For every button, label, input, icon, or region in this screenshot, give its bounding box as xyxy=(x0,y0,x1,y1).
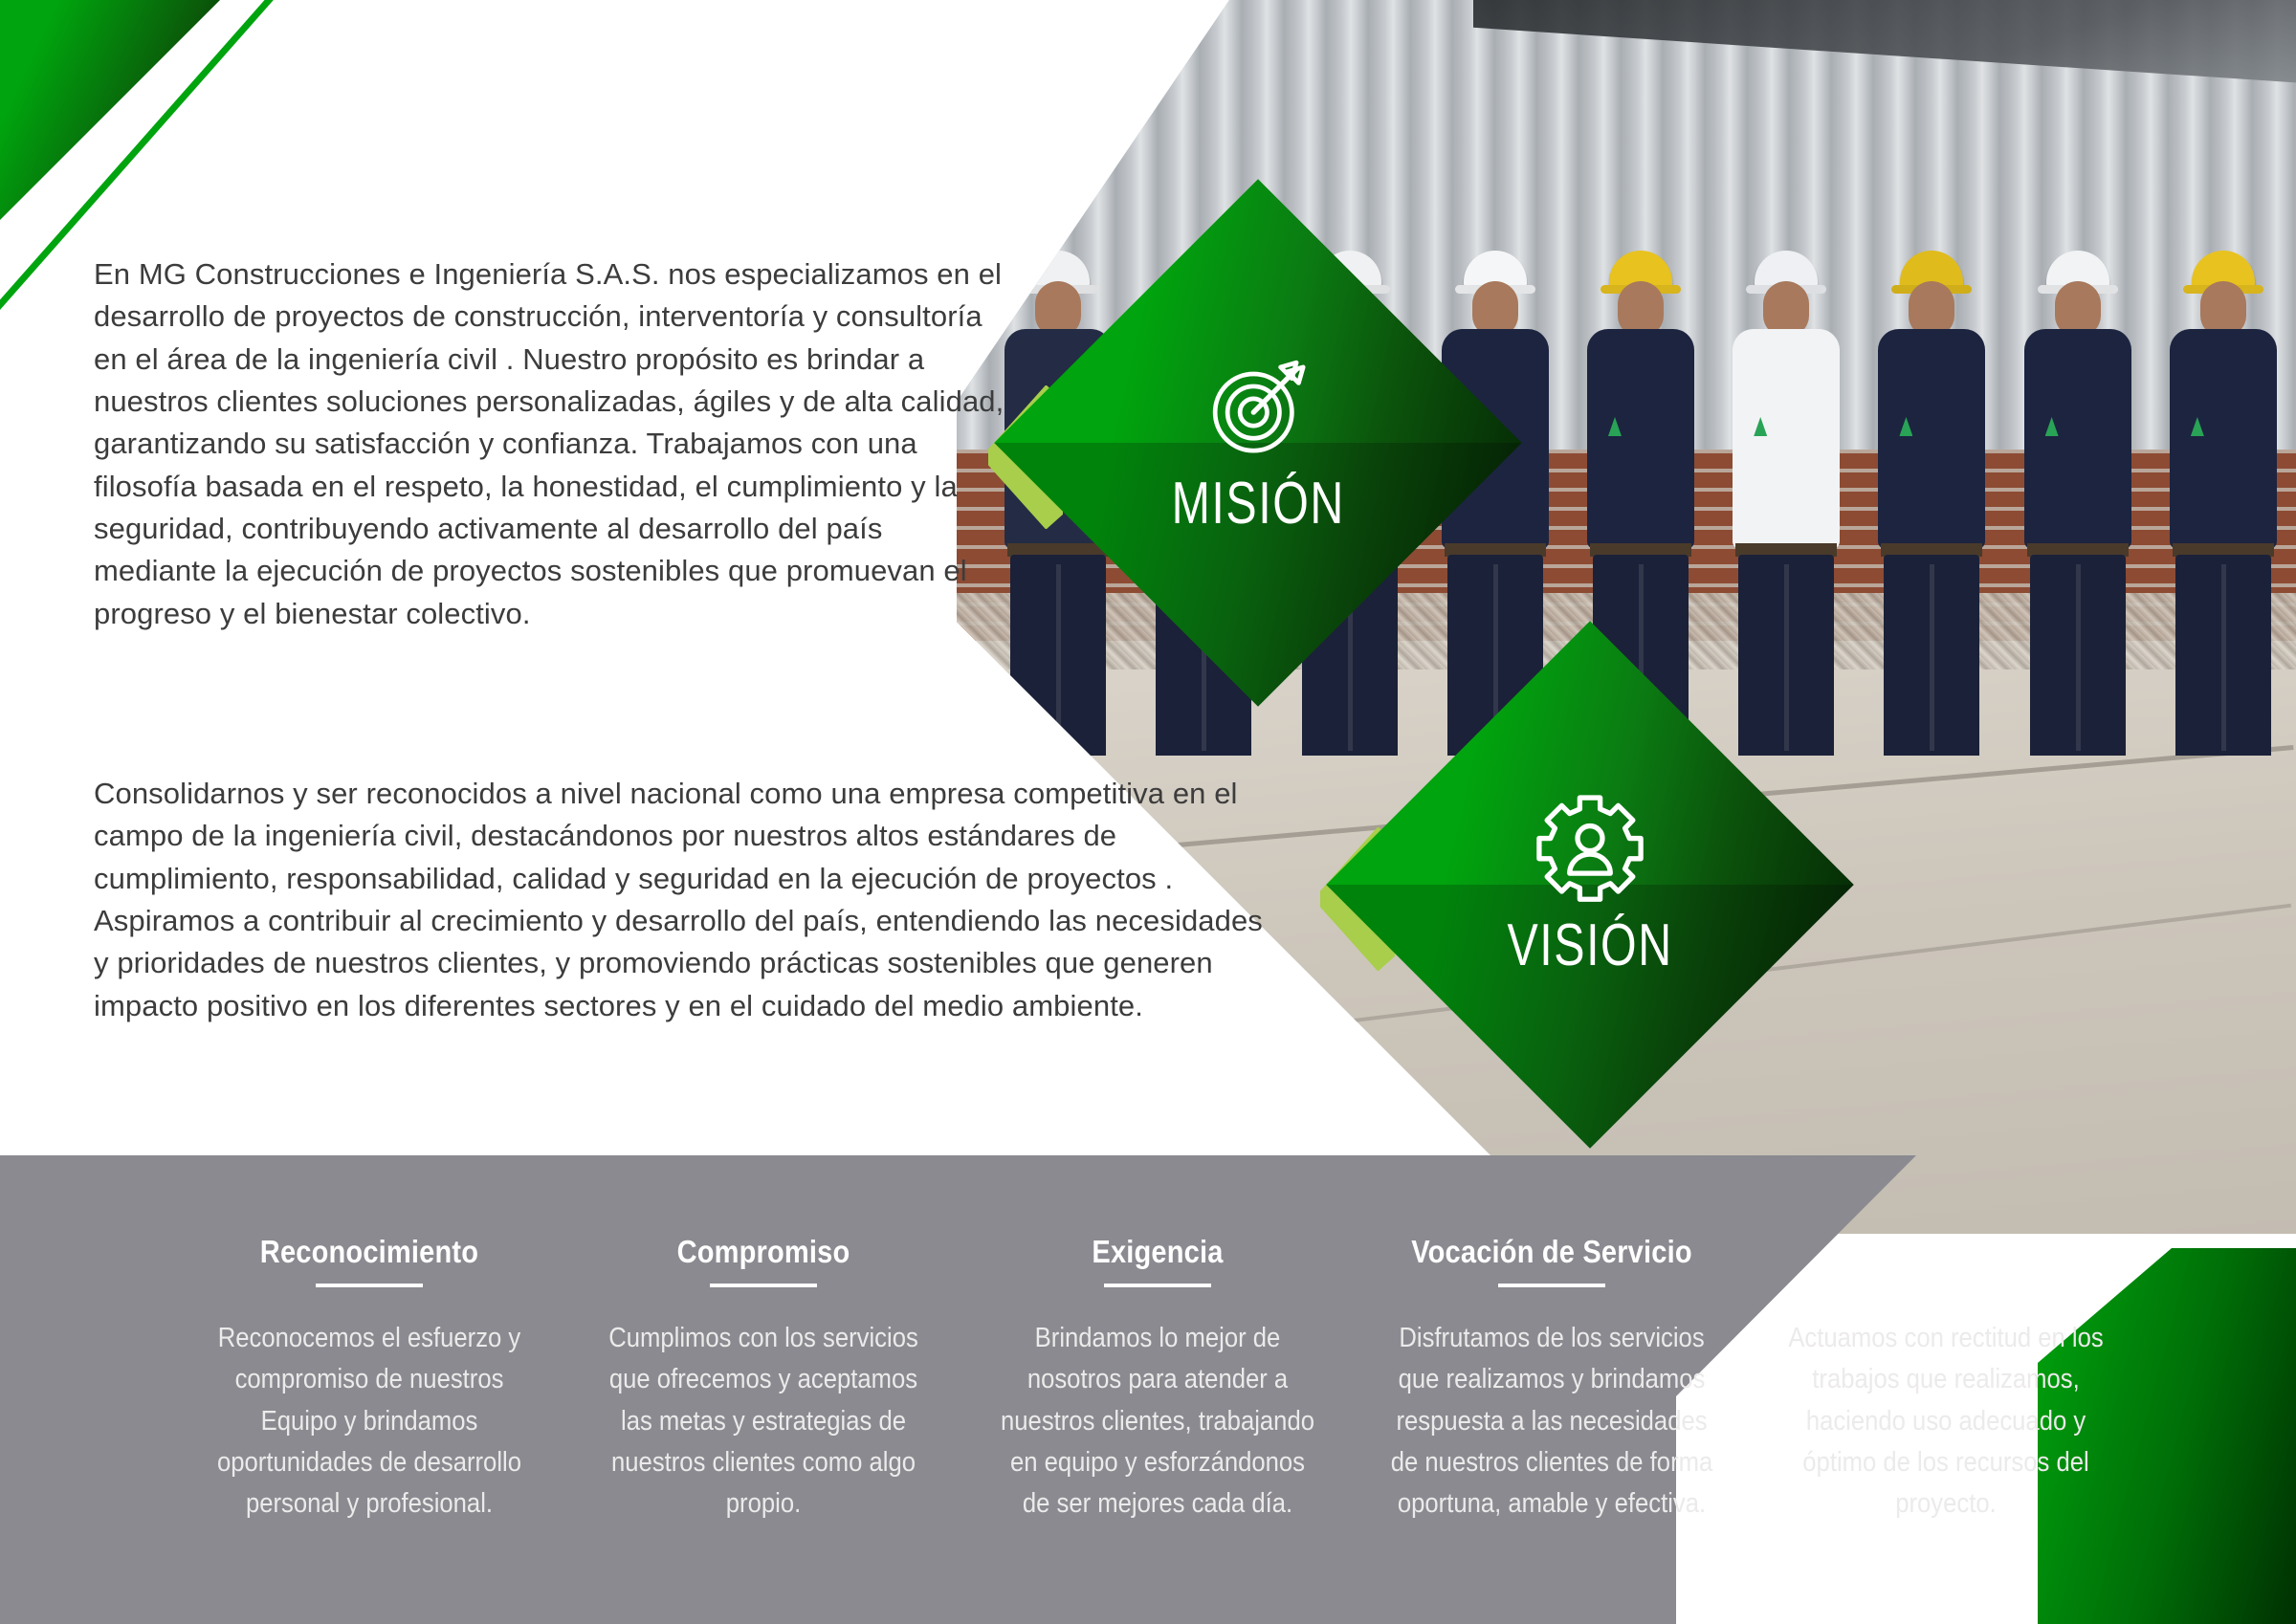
value-underline xyxy=(1892,1284,1999,1287)
worker xyxy=(1859,239,2004,775)
value-column-vocacion-de-servicio: Vocación de Servicio Disfrutamos de los … xyxy=(1355,1234,1749,1525)
value-underline xyxy=(1104,1284,1211,1287)
value-underline xyxy=(1498,1284,1605,1287)
vision-paragraph: Consolidarnos y ser reconocidos a nivel … xyxy=(94,773,1266,1027)
values-row: Reconocimiento Reconocemos el esfuerzo y… xyxy=(172,1234,2143,1525)
worker xyxy=(1713,239,1859,775)
gear-person-icon xyxy=(1534,791,1646,904)
worker xyxy=(2151,239,2296,775)
value-text: Reconocemos el esfuerzo y compromiso de … xyxy=(208,1318,531,1525)
value-underline xyxy=(710,1284,817,1287)
value-column-honestidad: Honestidad Actuamos con rectitud en los … xyxy=(1749,1234,2143,1525)
value-title: Exigencia xyxy=(1000,1234,1316,1270)
value-text: Cumplimos con los servicios que ofrecemo… xyxy=(602,1318,925,1525)
target-arrow-icon xyxy=(1202,349,1314,462)
value-text: Actuamos con rectitud en los trabajos qu… xyxy=(1784,1318,2108,1525)
value-title: Honestidad xyxy=(1788,1234,2105,1270)
value-column-exigencia: Exigencia Brindamos lo mejor de nosotros… xyxy=(960,1234,1355,1525)
worker xyxy=(2005,239,2151,775)
corner-gradient-triangle xyxy=(0,0,220,220)
mission-badge: MISIÓN xyxy=(1071,256,1445,629)
value-column-compromiso: Compromiso Cumplimos con los servicios q… xyxy=(566,1234,960,1525)
value-text: Brindamos lo mejor de nosotros para aten… xyxy=(996,1318,1319,1525)
value-title: Vocación de Servicio xyxy=(1394,1234,1711,1270)
mission-paragraph: En MG Construcciones e Ingeniería S.A.S.… xyxy=(94,253,1012,635)
value-title: Reconocimiento xyxy=(211,1234,528,1270)
mission-label: MISIÓN xyxy=(1171,470,1344,538)
vision-badge: VISIÓN xyxy=(1403,698,1777,1071)
value-underline xyxy=(316,1284,423,1287)
value-column-reconocimiento: Reconocimiento Reconocemos el esfuerzo y… xyxy=(172,1234,566,1525)
value-title: Compromiso xyxy=(606,1234,922,1270)
vision-label: VISIÓN xyxy=(1507,911,1672,979)
brochure-page: En MG Construcciones e Ingeniería S.A.S.… xyxy=(0,0,2296,1624)
value-text: Disfrutamos de los servicios que realiza… xyxy=(1390,1318,1713,1525)
